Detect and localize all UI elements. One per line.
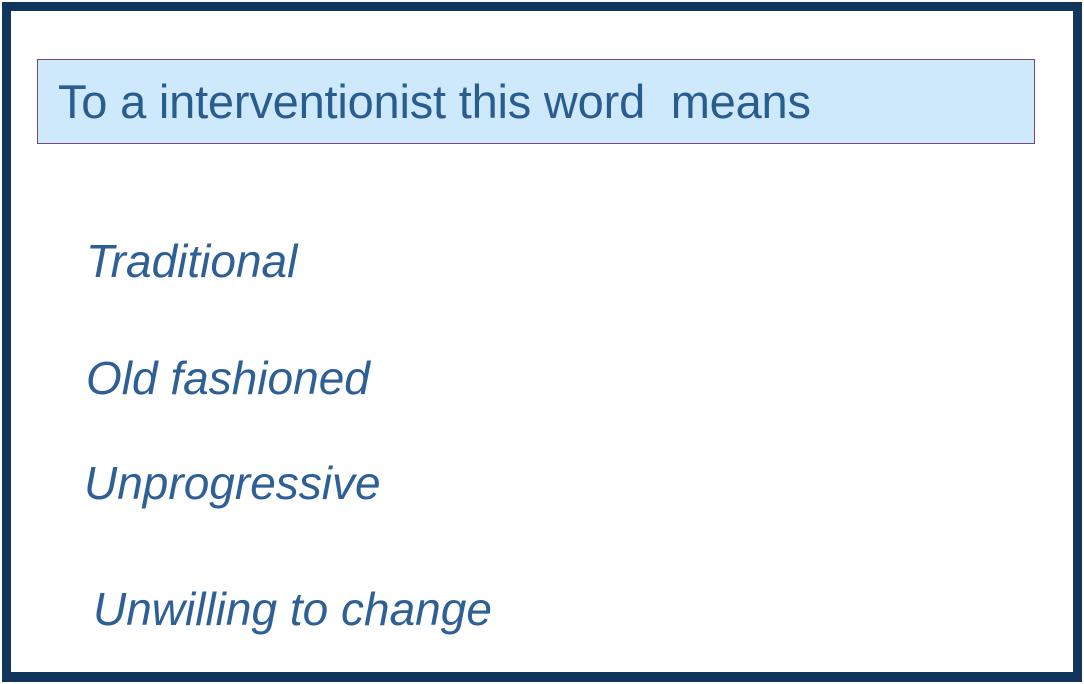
slide-border-left bbox=[2, 2, 11, 682]
slide-title: To a interventionist this word means bbox=[38, 78, 811, 125]
presentation-slide: To a interventionist this word means Tra… bbox=[0, 0, 1084, 684]
slide-border-bottom bbox=[2, 672, 1082, 682]
list-item[interactable]: Traditional bbox=[86, 238, 297, 284]
slide-border-top bbox=[2, 2, 1082, 11]
title-box[interactable]: To a interventionist this word means bbox=[37, 59, 1035, 144]
list-item[interactable]: Unprogressive bbox=[84, 460, 381, 506]
list-item[interactable]: Old fashioned bbox=[86, 355, 370, 401]
slide-border-right bbox=[1073, 2, 1082, 682]
list-item[interactable]: Unwilling to change bbox=[93, 586, 492, 632]
